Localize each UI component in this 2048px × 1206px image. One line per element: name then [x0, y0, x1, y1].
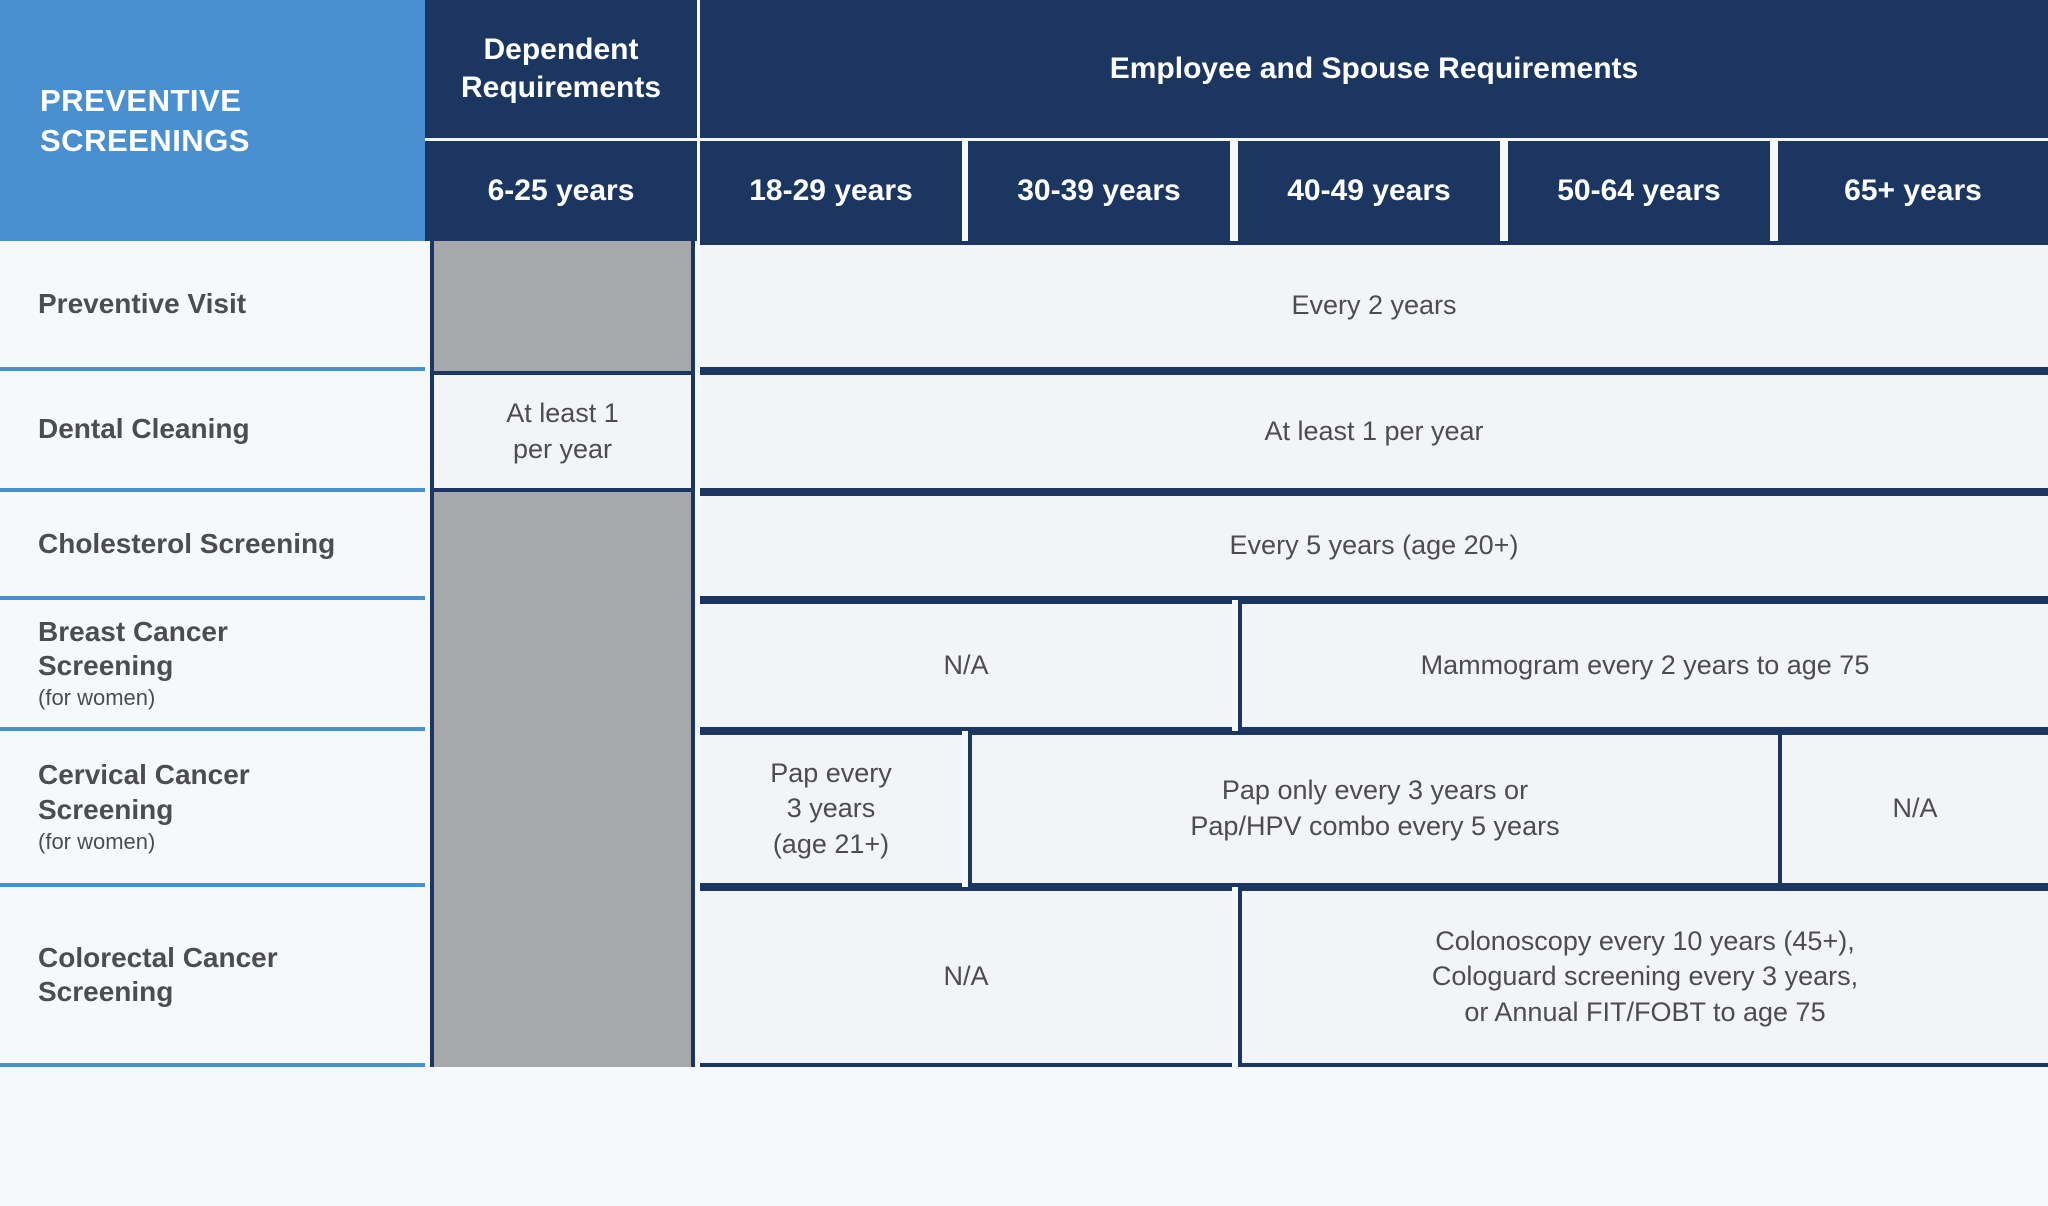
column-header-50-64: 50-64 years [1508, 141, 1770, 241]
row-label-text: Cervical Cancer Screening [38, 758, 250, 826]
row-label: Preventive Visit [0, 241, 425, 371]
dependent-cell-not-applicable [430, 492, 695, 600]
column-group-employee-spouse: Employee and Spouse Requirements [700, 0, 2048, 138]
row-label-note: (for women) [38, 829, 155, 856]
dependent-cell-not-applicable [430, 600, 695, 731]
dependent-cell-not-applicable [430, 731, 695, 887]
column-header-18-29: 18-29 years [700, 141, 962, 241]
dependent-cell-not-applicable [430, 241, 695, 371]
column-header-65-plus: 65+ years [1778, 141, 2048, 241]
row-label-text: Cholesterol Screening [38, 527, 335, 561]
row-label-note: (for women) [38, 685, 155, 712]
row-label-text: Dental Cleaning [38, 412, 250, 446]
column-header-40-49: 40-49 years [1238, 141, 1500, 241]
column-header-30-39: 30-39 years [968, 141, 1230, 241]
row-label: Cervical Cancer Screening(for women) [0, 731, 425, 887]
row-label-text: Preventive Visit [38, 287, 246, 321]
preventive-screenings-table: PREVENTIVE SCREENINGS Dependent Requirem… [0, 0, 2048, 1206]
column-group-dependent: Dependent Requirements [425, 0, 697, 138]
row-label: Colorectal Cancer Screening [0, 887, 425, 1067]
row-label: Cholesterol Screening [0, 492, 425, 600]
row-label-text: Breast Cancer Screening [38, 615, 228, 683]
dependent-cell-not-applicable [430, 887, 695, 1067]
row-label: Breast Cancer Screening(for women) [0, 600, 425, 731]
page-title: PREVENTIVE SCREENINGS [0, 0, 425, 241]
data-cell: N/A [700, 600, 1232, 731]
column-header-dependent-age: 6-25 years [425, 141, 697, 241]
data-cell: Mammogram every 2 years to age 75 [1238, 600, 2048, 731]
data-cell: N/A [700, 887, 1232, 1067]
dependent-cell: At least 1 per year [430, 371, 695, 492]
row-label: Dental Cleaning [0, 371, 425, 492]
data-cell: N/A [1778, 731, 2048, 887]
data-cell: Pap only every 3 years or Pap/HPV combo … [968, 731, 1778, 887]
data-cell: Every 5 years (age 20+) [700, 492, 2048, 600]
data-cell: Colonoscopy every 10 years (45+), Cologu… [1238, 887, 2048, 1067]
data-cell: Pap every 3 years (age 21+) [700, 731, 962, 887]
row-label-text: Colorectal Cancer Screening [38, 941, 278, 1009]
data-cell: Every 2 years [700, 241, 2048, 371]
data-cell: At least 1 per year [700, 371, 2048, 492]
